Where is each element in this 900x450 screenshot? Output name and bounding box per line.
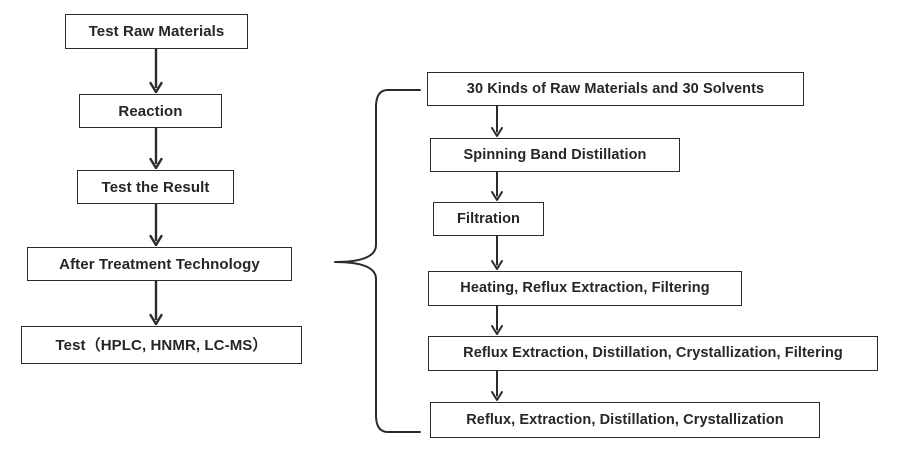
node-test-hplc-hnmr-lcms[interactable]: Test（HPLC, HNMR, LC-MS） <box>21 326 302 364</box>
node-label-reflux-extraction-distillation-crystallization: Reflux, Extraction, Distillation, Crysta… <box>466 413 784 428</box>
node-label-reflux-extraction-distillation-crystallization-filtering: Reflux Extraction, Distillation, Crystal… <box>463 346 843 361</box>
arrow-filtration-to-heating-head <box>492 261 502 269</box>
node-label-filtration: Filtration <box>457 212 520 227</box>
arrow-spinning-to-filtration-head <box>492 192 502 200</box>
node-label-heating-reflux-extraction-filtering: Heating, Reflux Extraction, Filtering <box>460 281 709 296</box>
arrow-heating-to-reflux-four-head <box>492 326 502 334</box>
node-label-test-the-result: Test the Result <box>102 180 210 195</box>
node-reflux-extraction-distillation-crystallization[interactable]: Reflux, Extraction, Distillation, Crysta… <box>430 402 820 438</box>
arrow-reaction-to-result-head <box>151 159 162 168</box>
node-label-test-raw-materials: Test Raw Materials <box>89 24 225 39</box>
node-after-treatment-technology[interactable]: After Treatment Technology <box>27 247 292 281</box>
node-test-raw-materials[interactable]: Test Raw Materials <box>65 14 248 49</box>
node-heating-reflux-extraction-filtering[interactable]: Heating, Reflux Extraction, Filtering <box>428 271 742 306</box>
flowchart-canvas: Test Raw MaterialsReactionTest the Resul… <box>0 0 900 450</box>
arrow-result-to-after-treatment-head <box>151 236 162 245</box>
node-raw-materials-and-solvents[interactable]: 30 Kinds of Raw Materials and 30 Solvent… <box>427 72 804 106</box>
arrow-raw-to-reaction-head <box>151 83 162 92</box>
arrow-reflux-four-to-reflux-last-head <box>492 392 502 400</box>
node-spinning-band-distillation[interactable]: Spinning Band Distillation <box>430 138 680 172</box>
node-reflux-extraction-distillation-crystallization-filtering[interactable]: Reflux Extraction, Distillation, Crystal… <box>428 336 878 371</box>
node-filtration[interactable]: Filtration <box>433 202 544 236</box>
node-label-reaction: Reaction <box>118 104 182 119</box>
arrow-after-treatment-to-test-head <box>151 315 162 324</box>
node-label-spinning-band-distillation: Spinning Band Distillation <box>463 148 646 163</box>
node-reaction[interactable]: Reaction <box>79 94 222 128</box>
node-label-after-treatment-technology: After Treatment Technology <box>59 257 260 272</box>
node-test-the-result[interactable]: Test the Result <box>77 170 234 204</box>
node-label-raw-materials-and-solvents: 30 Kinds of Raw Materials and 30 Solvent… <box>467 82 764 97</box>
arrow-materials-to-spinning-head <box>492 128 502 136</box>
node-label-test-hplc-hnmr-lcms: Test（HPLC, HNMR, LC-MS） <box>55 338 267 353</box>
